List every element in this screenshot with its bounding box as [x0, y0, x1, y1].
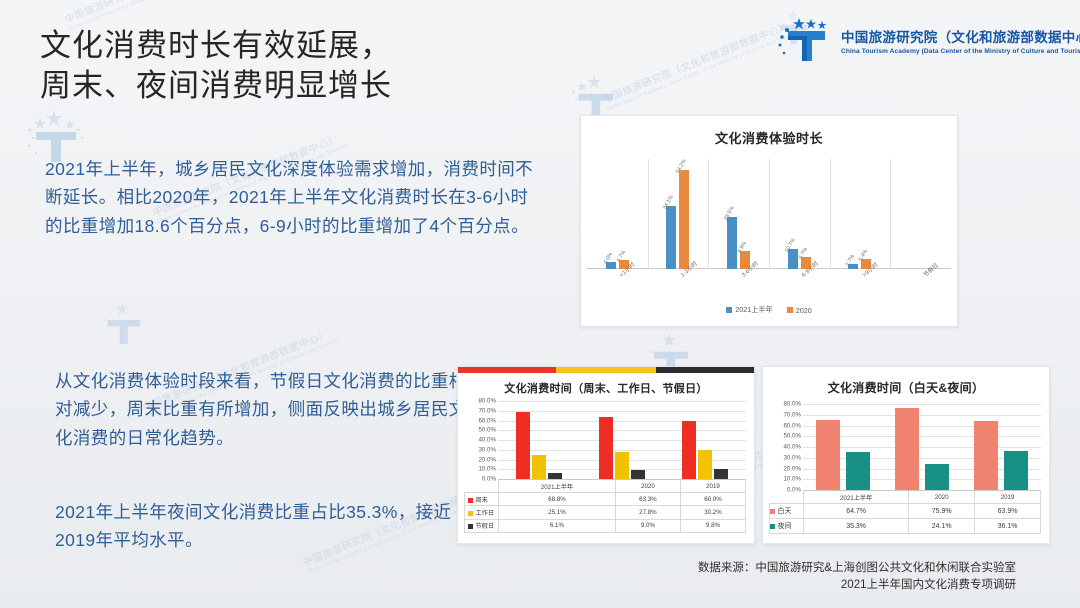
table-cell: 24.1% — [909, 519, 975, 534]
chart-bar — [615, 452, 629, 479]
page-title: 文化消费时长有效延展， 周末、夜间消费明显增长 — [40, 26, 392, 105]
table-header-row: 2021上半年20202019 — [770, 491, 1041, 504]
table-column-header: 2021上半年 — [499, 480, 616, 493]
chart-bar: 4.0% — [606, 262, 616, 269]
table-cell: 60.0% — [680, 493, 745, 506]
chart-bars-day-night — [803, 404, 1041, 490]
chart-ytick-label: 0.0% — [482, 476, 496, 483]
chart-bar — [599, 417, 613, 479]
watermark-star-logo — [95, 300, 151, 348]
chart-table: 2021上半年20202019周末68.8%63.3%60.0%工作日25.1%… — [464, 479, 746, 533]
table-series-legend: 工作日 — [465, 506, 499, 519]
table-series-name: 夜间 — [778, 523, 792, 530]
chart-ytick-label: 40.0% — [478, 437, 496, 444]
table-row: 白天64.7%75.9%63.9% — [770, 504, 1041, 519]
chart-bar-group — [599, 401, 645, 479]
chart-plot-day-night: 80.0%70.0%60.0%50.0%40.0%30.0%20.0%10.0%… — [769, 404, 1041, 490]
body-paragraph-1: 2021年上半年，城乡居民文化深度体验需求增加，消费时间不断延长。相比2020年… — [45, 155, 535, 240]
table-column-header: 2020 — [615, 480, 680, 493]
chart-ytick-label: 50.0% — [478, 427, 496, 434]
table-header-row: 2021上半年20202019 — [465, 480, 746, 493]
legend-swatch-icon — [468, 498, 473, 503]
table-cell: 30.2% — [680, 506, 745, 519]
chart-ytick-label: 70.0% — [783, 411, 801, 418]
chart-gridline — [498, 479, 746, 480]
chart-ytick-label: 70.0% — [478, 407, 496, 414]
table-cell: 63.9% — [975, 504, 1041, 519]
chart-bar — [714, 469, 728, 479]
chart-bar — [516, 412, 530, 479]
chart-ytick-label: 20.0% — [783, 465, 801, 472]
table-series-name: 节假日 — [476, 523, 495, 530]
chart-bar-group — [816, 404, 870, 490]
chart-bar: 10.7% — [788, 249, 798, 269]
table-series-legend: 白天 — [770, 504, 804, 519]
chart-title-day-night: 文化消费时间（白天&夜间） — [763, 379, 1049, 396]
chart-bar — [631, 470, 645, 479]
watermark-text: 中国旅游研究院（文化和旅游部数据中心） China Tourism Academ… — [600, 15, 800, 113]
chart-bar-value-label: 4.0% — [603, 251, 614, 265]
chart-bar — [974, 421, 998, 490]
table-series-legend: 节假日 — [465, 519, 499, 532]
chart-legend-item: 2021上半年 — [726, 305, 773, 315]
table-cell: 68.8% — [499, 493, 616, 506]
table-row: 工作日25.1%27.8%30.2% — [465, 506, 746, 519]
table-row: 夜间35.3%24.1%36.1% — [770, 519, 1041, 534]
chart-bar: 34.1% — [666, 206, 676, 269]
table-cell: 25.1% — [499, 506, 616, 519]
chart-bar — [548, 473, 562, 479]
table-series-legend: 周末 — [465, 493, 499, 506]
table-cell: 36.1% — [975, 519, 1041, 534]
table-cell: 6.1% — [499, 519, 616, 532]
chart-bars-duration: 4.0%4.7%34.1%54.2%28.5%9.9%10.7%6.7%2.7%… — [587, 159, 951, 269]
chart-bar-value-label: 6.7% — [798, 246, 809, 260]
decorative-tricolor-bar — [458, 367, 754, 373]
body-paragraph-3: 2021年上半年夜间文化消费比重占比35.3%，接近2019年平均水平。 — [55, 498, 475, 555]
chart-bar-value-label: 5.4% — [858, 249, 869, 263]
chart-ytick-label: 60.0% — [478, 417, 496, 424]
chart-bar-value-label: 54.2% — [675, 158, 688, 174]
chart-bar — [846, 452, 870, 490]
chart-title-weekday-weekend: 文化消费时间（周末、工作日、节假日） — [458, 380, 754, 396]
chart-bar — [1004, 451, 1028, 490]
data-source-note: 数据来源：中国旅游研究&上海创图公共文化和休闲联合实验室 2021上半年国内文化… — [698, 560, 1016, 595]
table-cell: 35.3% — [804, 519, 909, 534]
table-series-legend: 夜间 — [770, 519, 804, 534]
chart-card-day-night: 文化消费时间（白天&夜间） 80.0%70.0%60.0%50.0%40.0%3… — [762, 366, 1050, 544]
legend-swatch-icon — [468, 524, 473, 529]
chart-ytick-label: 20.0% — [478, 456, 496, 463]
chart-bar-group — [895, 404, 949, 490]
legend-swatch-icon — [770, 509, 775, 514]
table-series-name: 白天 — [778, 508, 792, 515]
chart-bar-value-label: 9.9% — [737, 241, 748, 255]
chart-ytick-label: 30.0% — [783, 454, 801, 461]
chart-bar-group: 10.7%6.7% — [788, 159, 811, 269]
chart-bars-weekday-weekend — [498, 401, 746, 479]
chart-card-duration: 文化消费体验时长 4.0%4.7%34.1%54.2%28.5%9.9%10.7… — [580, 115, 958, 327]
table-row: 节假日6.1%9.0%9.8% — [465, 519, 746, 532]
chart-legend-label: 2020 — [796, 306, 812, 315]
table-row: 周末68.8%63.3%60.0% — [465, 493, 746, 506]
chart-bar-group — [974, 404, 1028, 490]
chart-ytick-label: 40.0% — [783, 444, 801, 451]
table-cell: 64.7% — [804, 504, 909, 519]
brand-logo: 中国旅游研究院（文化和旅游部数据中心） China Tourism Academ… — [775, 18, 1080, 62]
chart-ytick-label: 10.0% — [783, 476, 801, 483]
chart-bar-group: 28.5%9.9% — [727, 159, 750, 269]
chart-bar-value-label: 2.7% — [845, 254, 856, 268]
table-cell: 9.0% — [615, 519, 680, 532]
legend-swatch-icon — [787, 307, 793, 313]
chart-bar-group — [516, 401, 562, 479]
chart-legend-item: 2020 — [787, 305, 812, 315]
chart-ytick-label: 80.0% — [783, 401, 801, 408]
slide-canvas: 中国旅游研究院（文化和旅游部数据中心） China Tourism Academ… — [0, 0, 1080, 608]
chart-bar-group: 34.1%54.2% — [666, 159, 689, 269]
chart-ytick-label: 10.0% — [478, 466, 496, 473]
legend-swatch-icon — [726, 307, 732, 313]
table-cell: 63.3% — [615, 493, 680, 506]
tourism-academy-logo-icon — [775, 18, 833, 62]
table-column-header: 2020 — [909, 491, 975, 504]
chart-legend-label: 2021上半年 — [735, 305, 773, 315]
chart-xaxis-duration: <1小时1-3小时3-6小时6-9小时>9小时节假日 — [587, 269, 951, 303]
chart-bar — [895, 408, 919, 490]
chart-bar-value-label: 10.7% — [784, 238, 797, 254]
chart-ytick-label: 60.0% — [783, 422, 801, 429]
chart-bar: 28.5% — [727, 217, 737, 269]
logo-title-en: China Tourism Academy (Data Center of th… — [841, 48, 1080, 55]
chart-bar — [925, 464, 949, 490]
table-series-name: 工作日 — [476, 510, 495, 517]
chart-ytick-label: 50.0% — [783, 433, 801, 440]
chart-bar-value-label: 28.5% — [723, 205, 736, 221]
table-column-header: 2019 — [975, 491, 1041, 504]
chart-title-duration: 文化消费体验时长 — [581, 128, 957, 147]
chart-ytick-label: 30.0% — [478, 446, 496, 453]
chart-bar-group — [682, 401, 728, 479]
chart-ytick-label: 0.0% — [787, 487, 801, 494]
chart-bar — [698, 450, 712, 479]
table-cell: 9.8% — [680, 519, 745, 532]
chart-yaxis-weekday-weekend: 80.0%70.0%60.0%50.0%40.0%30.0%20.0%10.0%… — [464, 401, 498, 479]
chart-bar-group: 2.7%5.4% — [848, 159, 871, 269]
chart-bar: 54.2% — [679, 170, 689, 269]
legend-swatch-icon — [770, 524, 775, 529]
chart-yaxis-day-night: 80.0%70.0%60.0%50.0%40.0%30.0%20.0%10.0%… — [769, 404, 803, 490]
chart-bar-value-label: 34.1% — [662, 195, 675, 211]
chart-ytick-label: 80.0% — [478, 398, 496, 405]
chart-bar-value-label: 4.7% — [616, 250, 627, 264]
chart-gridline — [803, 490, 1041, 491]
chart-data-table-weekday-weekend: 2021上半年20202019周末68.8%63.3%60.0%工作日25.1%… — [464, 479, 746, 533]
chart-data-table-day-night: 2021上半年20202019白天64.7%75.9%63.9%夜间35.3%2… — [769, 490, 1041, 534]
table-cell: 75.9% — [909, 504, 975, 519]
chart-table: 2021上半年20202019白天64.7%75.9%63.9%夜间35.3%2… — [769, 490, 1041, 534]
table-series-name: 周末 — [476, 497, 488, 504]
chart-plot-duration: 4.0%4.7%34.1%54.2%28.5%9.9%10.7%6.7%2.7%… — [587, 159, 951, 269]
chart-bar-group — [909, 159, 932, 269]
chart-legend-duration: 2021上半年2020 — [581, 305, 957, 315]
chart-bar — [532, 455, 546, 479]
chart-plot-weekday-weekend: 80.0%70.0%60.0%50.0%40.0%30.0%20.0%10.0%… — [464, 401, 746, 479]
legend-swatch-icon — [468, 511, 473, 516]
table-cell: 27.8% — [615, 506, 680, 519]
logo-title-cn: 中国旅游研究院（文化和旅游部数据中心） — [841, 26, 1080, 46]
table-column-header: 2021上半年 — [804, 491, 909, 504]
table-column-header: 2019 — [680, 480, 745, 493]
chart-card-weekday-weekend: 文化消费时间（周末、工作日、节假日） 80.0%70.0%60.0%50.0%4… — [457, 366, 755, 544]
body-paragraph-2: 从文化消费体验时段来看，节假日文化消费的比重相对减少，周末比重有所增加，侧面反映… — [55, 367, 475, 452]
chart-bar — [682, 421, 696, 480]
chart-bar — [816, 420, 840, 490]
chart-bar-group: 4.0%4.7% — [606, 159, 629, 269]
